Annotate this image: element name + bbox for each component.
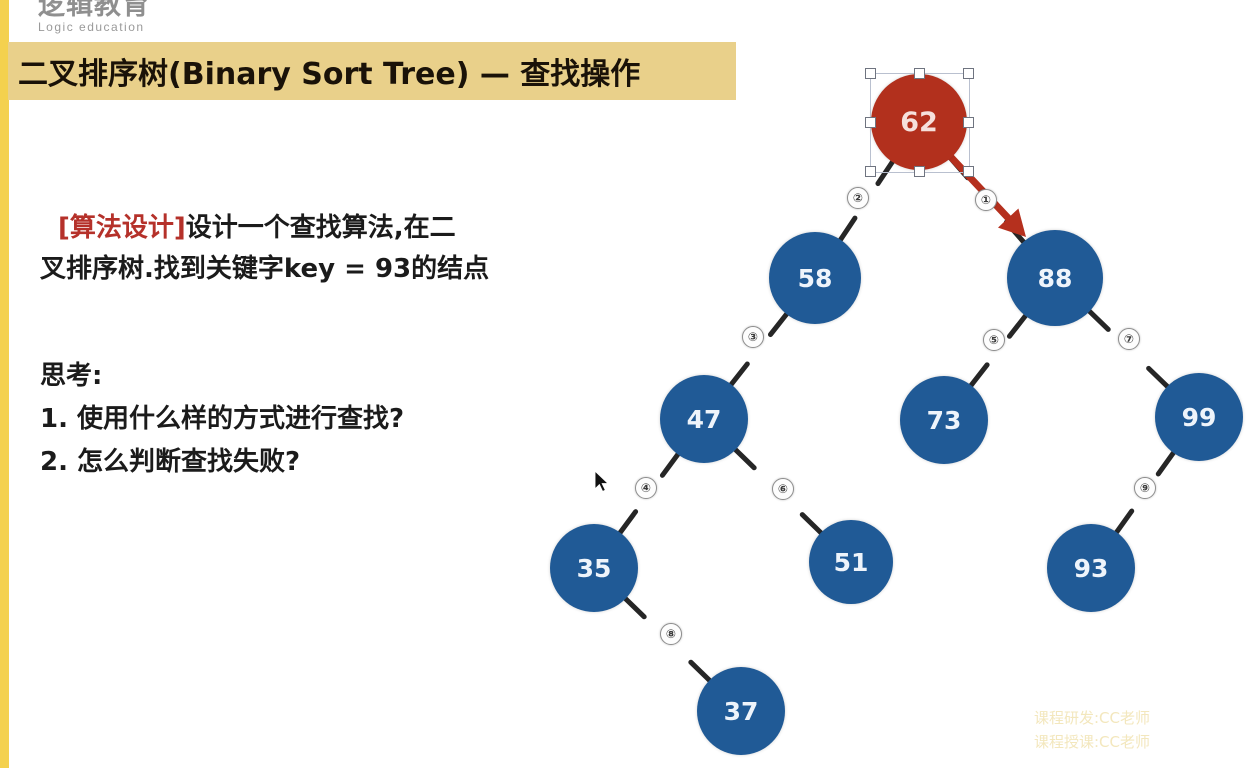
- tree-node-label: 88: [1038, 264, 1073, 293]
- watermark: 课程研发:CC老师 课程授课:CC老师: [1034, 706, 1150, 754]
- tree-node-label: 93: [1074, 554, 1109, 583]
- mouse-cursor: [594, 470, 612, 496]
- edge-step-label-58-47: ③: [742, 326, 764, 348]
- tree-node-51[interactable]: 51: [809, 520, 893, 604]
- tree-node-label: 51: [834, 548, 869, 577]
- tree-node-73[interactable]: 73: [900, 376, 988, 464]
- tree-node-label: 47: [687, 405, 722, 434]
- edge-step-label-62-88: ①: [975, 189, 997, 211]
- tree-node-label: 37: [724, 697, 759, 726]
- edge-step-label-35-37: ⑧: [660, 623, 682, 645]
- resize-handle-ne[interactable]: [963, 68, 974, 79]
- tree-node-93[interactable]: 93: [1047, 524, 1135, 612]
- resize-handle-w[interactable]: [865, 117, 876, 128]
- tree-node-label: 58: [798, 264, 833, 293]
- watermark-line-1: 课程研发:CC老师: [1034, 706, 1150, 730]
- tree-node-label: 73: [927, 406, 962, 435]
- edge-step-label-47-51: ⑥: [772, 478, 794, 500]
- edge-step-label-47-35: ④: [635, 477, 657, 499]
- tree-node-99[interactable]: 99: [1155, 373, 1243, 461]
- tree-node-35[interactable]: 35: [550, 524, 638, 612]
- edge-step-label-88-73: ⑤: [983, 329, 1005, 351]
- slide-canvas: 逻辑教育 Logic education 二叉排序树(Binary Sort T…: [0, 0, 1250, 768]
- binary-sort-tree-diagram: 62588847739935519337 ②①③⑤⑦④⑥⑨⑧: [0, 0, 1250, 768]
- edge-step-label-88-99: ⑦: [1118, 328, 1140, 350]
- resize-handle-s[interactable]: [914, 166, 925, 177]
- tree-edges-layer: [0, 0, 1250, 768]
- resize-handle-n[interactable]: [914, 68, 925, 79]
- tree-node-58[interactable]: 58: [769, 232, 861, 324]
- edge-step-label-99-93: ⑨: [1134, 477, 1156, 499]
- resize-handle-nw[interactable]: [865, 68, 876, 79]
- tree-node-88[interactable]: 88: [1007, 230, 1103, 326]
- resize-handle-se[interactable]: [963, 166, 974, 177]
- edge-step-label-62-58: ②: [847, 187, 869, 209]
- tree-node-37[interactable]: 37: [697, 667, 785, 755]
- resize-handle-sw[interactable]: [865, 166, 876, 177]
- selection-bounding-box: [870, 73, 970, 173]
- tree-node-47[interactable]: 47: [660, 375, 748, 463]
- resize-handle-e[interactable]: [963, 117, 974, 128]
- watermark-line-2: 课程授课:CC老师: [1034, 730, 1150, 754]
- tree-node-label: 99: [1182, 403, 1217, 432]
- tree-node-label: 35: [577, 554, 612, 583]
